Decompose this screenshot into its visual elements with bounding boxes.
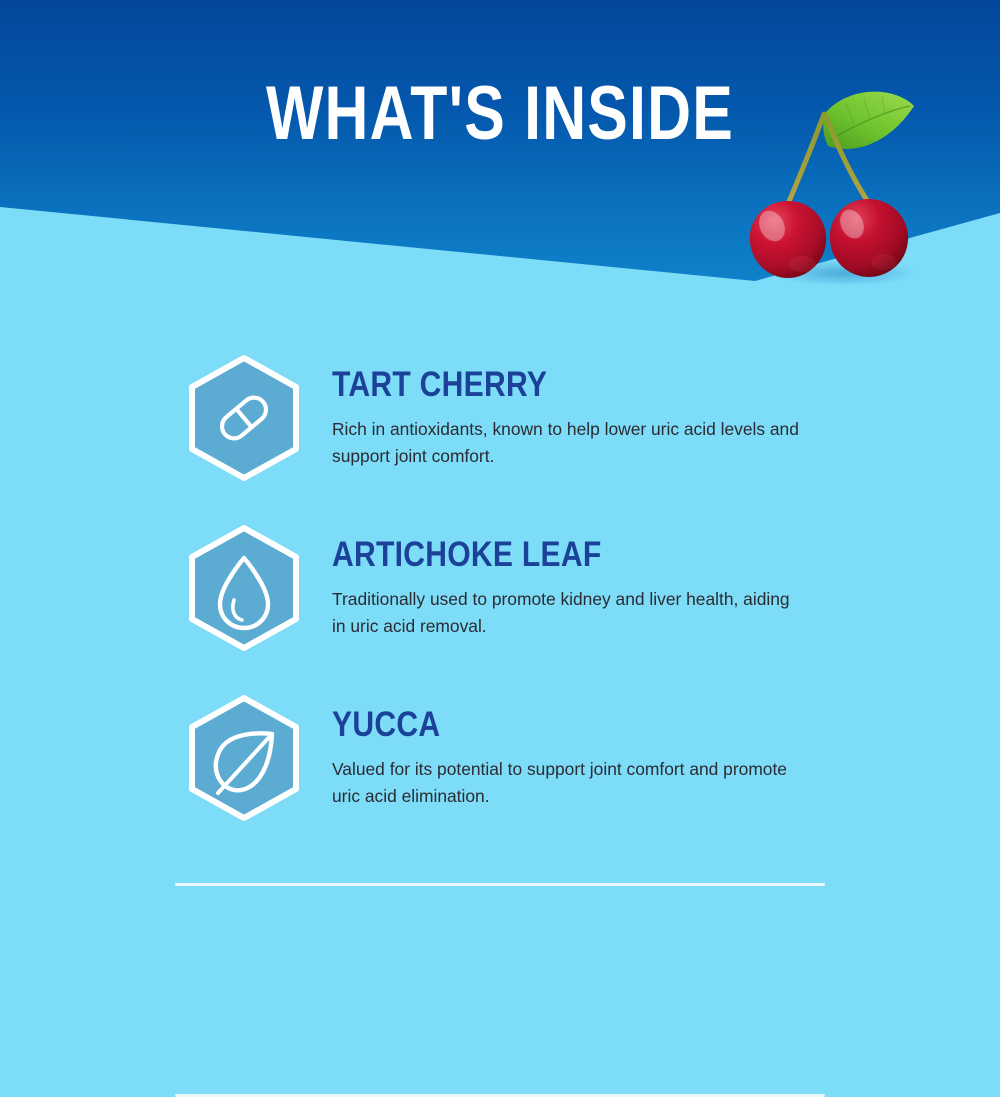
ingredient-list: TART CHERRY Rich in antioxidants, known … [0, 352, 1000, 862]
page-title: WHAT'S INSIDE [100, 72, 900, 156]
ingredient-title: YUCCA [332, 706, 736, 744]
ingredient-title: TART CHERRY [332, 366, 736, 404]
list-item: TART CHERRY Rich in antioxidants, known … [0, 352, 1000, 522]
list-item-text: TART CHERRY Rich in antioxidants, known … [332, 352, 802, 469]
ingredient-description: Traditionally used to promote kidney and… [332, 586, 802, 639]
leaf-icon [186, 694, 302, 822]
ingredient-description: Rich in antioxidants, known to help lowe… [332, 416, 802, 469]
ingredient-title: ARTICHOKE LEAF [332, 536, 736, 574]
water-drop-icon [186, 524, 302, 652]
capsule-icon [186, 354, 302, 482]
ingredient-description: Valued for its potential to support join… [332, 756, 802, 809]
list-item: ARTICHOKE LEAF Traditionally used to pro… [0, 522, 1000, 692]
divider [175, 883, 825, 886]
list-item: YUCCA Valued for its potential to suppor… [0, 692, 1000, 862]
header-banner: WHAT'S INSIDE [0, 0, 1000, 292]
list-item-text: ARTICHOKE LEAF Traditionally used to pro… [332, 522, 802, 639]
list-item-text: YUCCA Valued for its potential to suppor… [332, 692, 802, 809]
